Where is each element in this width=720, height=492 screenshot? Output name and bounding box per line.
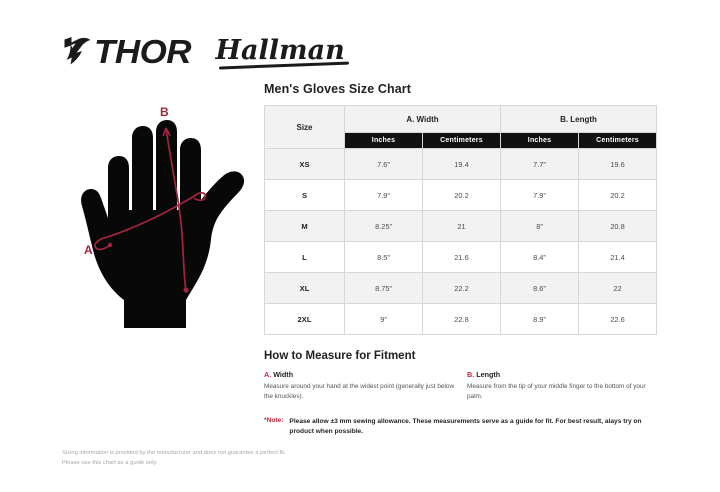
table-header-row-groups: Size A. Width B. Length <box>265 106 657 133</box>
cell-width-cm: 21 <box>423 211 501 242</box>
cell-length-in: 8.4” <box>501 242 579 273</box>
label-a: A <box>84 243 93 257</box>
note-row: *Note: Please allow ±3 mm sewing allowan… <box>264 417 656 438</box>
cell-width-cm: 19.4 <box>423 149 501 180</box>
cell-length-cm: 22.6 <box>579 304 657 335</box>
cell-length-cm: 20.8 <box>579 211 657 242</box>
how-to-width-text: Measure around your hand at the widest p… <box>264 382 459 402</box>
cell-width-cm: 22.8 <box>423 304 501 335</box>
thor-hammer-mark-icon <box>62 35 92 67</box>
how-to-width-heading: A. Width <box>264 370 459 379</box>
cell-width-in: 7.9” <box>345 180 423 211</box>
header-size: Size <box>265 106 345 149</box>
cell-length-cm: 22 <box>579 273 657 304</box>
cell-size: S <box>265 180 345 211</box>
width-tag: A. <box>264 370 271 379</box>
width-end-dot <box>108 243 112 247</box>
size-table: Size A. Width B. Length Inches Centimete… <box>264 105 657 335</box>
table-row: S 7.9” 20.2 7.9” 20.2 <box>265 180 657 211</box>
cell-width-cm: 21.6 <box>423 242 501 273</box>
table-row: 2XL 9” 22.8 8.9” 22.6 <box>265 304 657 335</box>
cell-size: M <box>265 211 345 242</box>
thor-logo: THOR <box>62 35 186 68</box>
header-length-centimeters: Centimeters <box>579 133 657 149</box>
length-end-dot <box>183 287 188 292</box>
cell-length-in: 7.9” <box>501 180 579 211</box>
cell-width-in: 8.25” <box>345 211 423 242</box>
cell-length-in: 7.7” <box>501 149 579 180</box>
how-to-length-heading: B. Length <box>467 370 656 379</box>
hand-silhouette <box>81 120 244 328</box>
cell-size: L <box>265 242 345 273</box>
cell-length-in: 8.6” <box>501 273 579 304</box>
footer-disclaimer: Sizing information is provided by the ma… <box>62 448 482 468</box>
size-chart-page: THOR Hallman B A Men's Gloves Size Chart <box>0 0 720 492</box>
table-row: M 8.25” 21 8” 20.8 <box>265 211 657 242</box>
how-to-width-block: A. Width Measure around your hand at the… <box>264 370 467 402</box>
table-row: L 8.5” 21.6 8.4” 21.4 <box>265 242 657 273</box>
cell-length-in: 8.9” <box>501 304 579 335</box>
cell-width-in: 8.5” <box>345 242 423 273</box>
chart-content: Men's Gloves Size Chart Size A. Width B.… <box>264 82 656 438</box>
cell-size: XL <box>265 273 345 304</box>
cell-width-in: 7.6” <box>345 149 423 180</box>
footer-line-1: Sizing information is provided by the ma… <box>62 448 482 458</box>
cell-length-in: 8” <box>501 211 579 242</box>
how-to-measure-section: How to Measure for Fitment A. Width Meas… <box>264 350 656 438</box>
label-b: B <box>160 105 169 119</box>
cell-size: 2XL <box>265 304 345 335</box>
header-length-group: B. Length <box>501 106 657 133</box>
note-label: *Note: <box>264 417 283 424</box>
width-name: Width <box>273 370 293 379</box>
cell-width-in: 9” <box>345 304 423 335</box>
note-text: Please allow ±3 mm sewing allowance. The… <box>289 417 649 438</box>
thor-wordmark: THOR <box>94 35 191 68</box>
hallman-wordmark: Hallman <box>216 37 345 66</box>
length-name: Length <box>476 370 500 379</box>
cell-width-cm: 22.2 <box>423 273 501 304</box>
how-to-length-block: B. Length Measure from the tip of your m… <box>467 370 656 402</box>
header-length-inches: Inches <box>501 133 579 149</box>
table-row: XS 7.6” 19.4 7.7” 19.6 <box>265 149 657 180</box>
brand-header: THOR Hallman <box>62 28 345 74</box>
how-to-measure-title: How to Measure for Fitment <box>264 350 656 362</box>
hand-measurement-diagram: B A <box>60 88 260 328</box>
cell-size: XS <box>265 149 345 180</box>
header-width-group: A. Width <box>345 106 501 133</box>
table-row: XL 8.75” 22.2 8.6” 22 <box>265 273 657 304</box>
page-title: Men's Gloves Size Chart <box>264 82 656 96</box>
header-width-inches: Inches <box>345 133 423 149</box>
length-tag: B. <box>467 370 474 379</box>
cell-length-cm: 21.4 <box>579 242 657 273</box>
header-width-centimeters: Centimeters <box>423 133 501 149</box>
cell-length-cm: 20.2 <box>579 180 657 211</box>
cell-width-cm: 20.2 <box>423 180 501 211</box>
footer-line-2: Please use this chart as a guide only. <box>62 458 482 468</box>
cell-width-in: 8.75” <box>345 273 423 304</box>
how-to-length-text: Measure from the tip of your middle fing… <box>467 382 656 402</box>
cell-length-cm: 19.6 <box>579 149 657 180</box>
